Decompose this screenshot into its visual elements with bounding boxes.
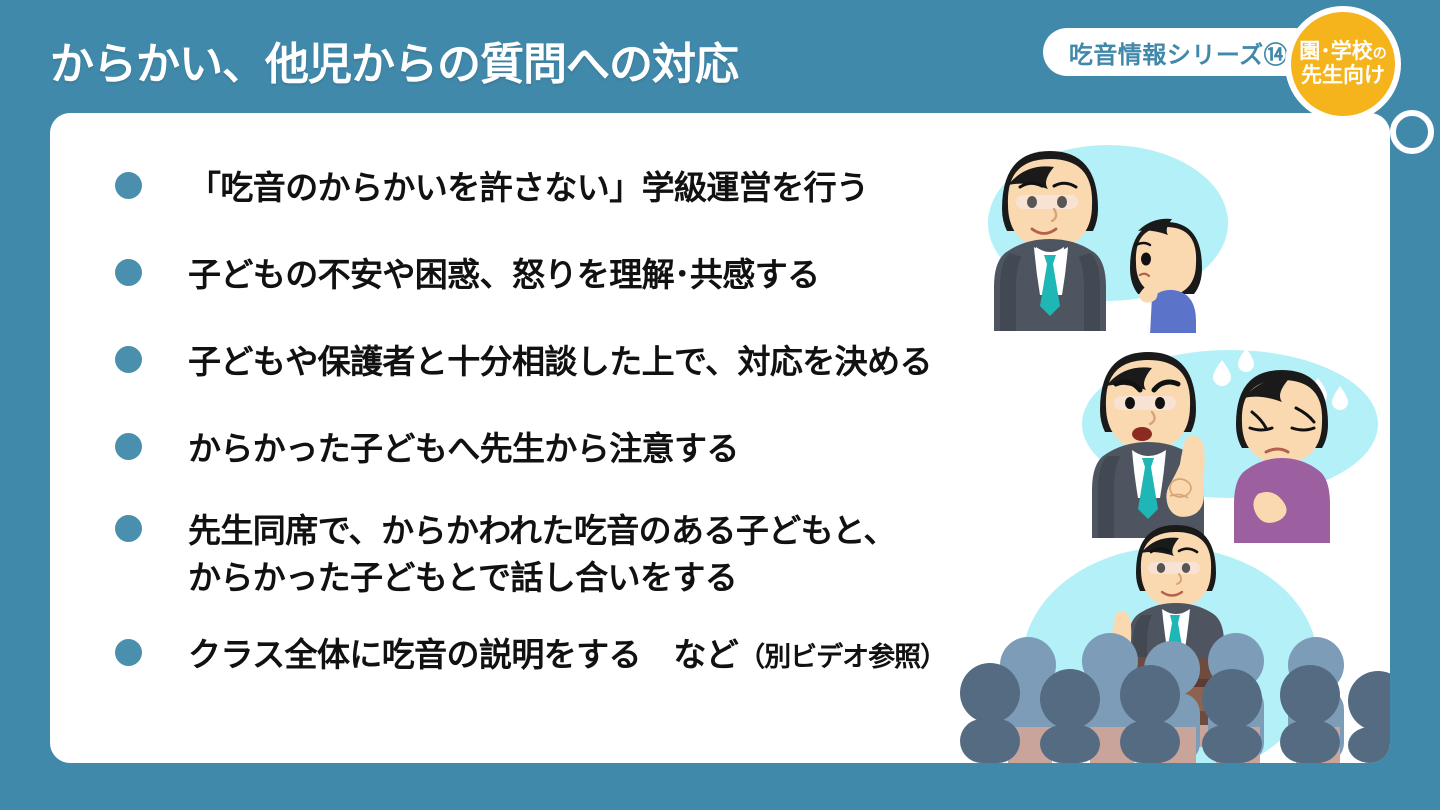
teacher-and-child-talking-icon [980,123,1240,333]
series-badge: 吃音情報シリーズ⑭ [1043,28,1318,76]
bullet-text-note: （別ビデオ参照） [738,642,946,672]
list-item: 先生同席で、からかわれた吃音のある子どもと、 からかった子どもとで話し合いをする [115,508,1015,602]
bullet-list: 「吃音のからかいを許さない」学級運営を行う 子どもの不安や困惑、怒りを理解･共感… [115,165,1015,679]
bullet-text: 子どもや保護者と十分相談した上で、対応を決める [188,339,932,386]
bullet-text: 「吃音のからかいを許さない」学級運営を行う [188,165,868,212]
illustration-teacher-addressing-class [950,513,1390,763]
series-badge-label: 吃音情報シリーズ⑭ [1069,35,1288,70]
content-card: 「吃音のからかいを許さない」学級運営を行う 子どもの不安や困惑、怒りを理解･共感… [50,113,1390,763]
bullet-dot-icon [115,172,142,199]
teacher-scolding-child-icon [1060,328,1390,543]
bullet-dot-icon [115,639,142,666]
list-item: クラス全体に吃音の説明をする など（別ビデオ参照） [115,632,1015,679]
bullet-dot-icon [115,259,142,286]
bullet-dot-icon [115,346,142,373]
bullet-text: からかった子どもへ先生から注意する [188,426,739,473]
bullet-text: 先生同席で、からかわれた吃音のある子どもと、 からかった子どもとで話し合いをする [188,508,896,602]
bullet-dot-icon [115,515,142,542]
list-item: 「吃音のからかいを許さない」学級運営を行う [115,165,1015,212]
teacher-addressing-class-icon [950,513,1390,763]
decorative-dot-circle [1390,110,1434,154]
list-item: 子どもの不安や困惑、怒りを理解･共感する [115,252,1015,299]
list-item: 子どもや保護者と十分相談した上で、対応を決める [115,339,1015,386]
illustration-teacher-scolding-child [1060,328,1390,543]
bullet-dot-icon [115,433,142,460]
illustration-teacher-and-child-talking [980,123,1240,333]
audience-badge: 園･学校の 先生向け [1285,6,1401,122]
audience-badge-line1: 園･学校の [1299,40,1387,64]
list-item: からかった子どもへ先生から注意する [115,426,1015,473]
audience-badge-line2: 先生向け [1301,64,1385,88]
bullet-text: クラス全体に吃音の説明をする など（別ビデオ参照） [188,632,946,679]
slide-root: からかい、他児からの質問への対応 吃音情報シリーズ⑭ 園･学校の 先生向け 「吃… [0,0,1440,810]
bullet-text: 子どもの不安や困惑、怒りを理解･共感する [188,252,820,299]
page-title: からかい、他児からの質問への対応 [50,28,738,92]
